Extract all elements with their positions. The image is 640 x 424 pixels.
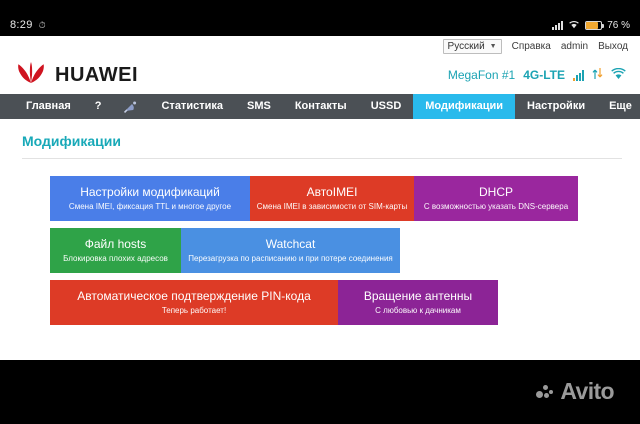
status-clock: 8:29 [10,19,33,31]
data-transfer-icon [592,67,603,83]
tile-title: Вращение антенны [364,290,472,303]
language-label: Русский [448,41,485,52]
cellular-signal-icon [573,70,584,81]
nav-item-more[interactable]: Еще [597,94,640,119]
android-status-bar: 8:29 ⏱ 76 % [0,14,640,36]
avito-dots-icon [536,384,555,399]
brand-name: HUAWEI [55,64,138,87]
site-header: HUAWEI MegaFon #1 4G-LTE [0,56,640,94]
tile-subtitle: Перезагрузка по расписанию и при потере … [188,255,393,264]
utility-bar: Русский ▼ Справка admin Выход [0,36,640,56]
tile-title: Watchcat [266,238,316,251]
tile-subtitle: Теперь работает! [162,307,226,316]
avito-watermark-overlay: Avito [560,335,618,352]
battery-icon [585,21,602,30]
main-navigation: Главная ? Статистика SMS Контакты USSD М… [0,94,640,119]
nav-item-home[interactable]: Главная [14,94,83,119]
operator-name: MegaFon #1 [448,68,515,82]
alarm-icon: ⏱ [39,21,46,30]
tile-row: Автоматическое подтверждение PIN-кода Те… [50,280,622,325]
title-divider [22,158,622,159]
phone-screenshot: 8:29 ⏱ 76 % Русский ▼ Справка admin Выхо… [0,0,640,424]
tile-hosts-file[interactable]: Файл hosts Блокировка плохих адресов [50,228,181,273]
status-bar-right: 76 % [552,19,630,32]
tile-title: АвтоIMEI [307,186,358,199]
network-type: 4G-LTE [523,68,565,82]
user-label[interactable]: admin [561,41,588,52]
cellular-signal-icon [552,21,563,30]
avito-logo: Avito [536,378,614,405]
tile-title: DHCP [479,186,513,199]
tile-title: Настройки модификаций [80,186,220,199]
nav-item-statistics[interactable]: Статистика [149,94,235,119]
status-bar-left: 8:29 ⏱ [10,19,46,31]
help-link[interactable]: Справка [512,41,551,52]
nav-item-ussd[interactable]: USSD [359,94,414,119]
tile-subtitle: С возможностью указать DNS-сервера [424,203,568,212]
tile-auto-pin-confirm[interactable]: Автоматическое подтверждение PIN-кода Те… [50,280,338,325]
nav-item-settings[interactable]: Настройки [515,94,597,119]
wifi-icon [568,19,580,32]
avito-watermark-text: Avito [583,335,618,352]
huawei-flower-icon [16,62,46,89]
tile-subtitle: Блокировка плохих адресов [63,255,168,264]
language-select[interactable]: Русский ▼ [443,39,502,54]
nav-item-sms[interactable]: SMS [235,94,283,119]
nav-item-help[interactable]: ? [83,94,114,119]
satellite-dish-icon[interactable] [113,94,149,119]
tile-title: Автоматическое подтверждение PIN-кода [77,290,311,303]
tile-subtitle: Смена IMEI, фиксация TTL и многое другое [69,203,231,212]
logout-link[interactable]: Выход [598,41,628,52]
brand-logo[interactable]: HUAWEI [16,62,138,89]
tile-watchcat[interactable]: Watchcat Перезагрузка по расписанию и пр… [181,228,400,273]
tile-row: Настройки модификаций Смена IMEI, фиксац… [50,176,622,221]
router-web-page: Русский ▼ Справка admin Выход [0,36,640,360]
tile-title: Файл hosts [85,238,147,251]
tile-auto-imei[interactable]: АвтоIMEI Смена IMEI в зависимости от SIM… [250,176,414,221]
tile-subtitle: С любовью к дачникам [375,307,461,316]
tile-dhcp[interactable]: DHCP С возможностью указать DNS-сервера [414,176,578,221]
nav-item-contacts[interactable]: Контакты [283,94,359,119]
tile-subtitle: Смена IMEI в зависимости от SIM-карты [257,203,407,212]
page-title: Модификации [22,133,622,149]
wifi-icon [611,68,626,83]
tile-antenna-rotation[interactable]: Вращение антенны С любовью к дачникам [338,280,498,325]
chevron-down-icon: ▼ [490,43,497,50]
header-status: MegaFon #1 4G-LTE [448,67,626,83]
avito-logo-text: Avito [560,378,614,405]
nav-item-modifications[interactable]: Модификации [413,94,515,119]
avito-dots-icon [560,336,579,351]
page-content: Модификации Настройки модификаций Смена … [0,119,640,325]
tile-grid: Настройки модификаций Смена IMEI, фиксац… [22,176,622,325]
tile-row: Файл hosts Блокировка плохих адресов Wat… [50,228,622,273]
battery-percent: 76 % [607,20,630,31]
tile-mod-settings[interactable]: Настройки модификаций Смена IMEI, фиксац… [50,176,250,221]
